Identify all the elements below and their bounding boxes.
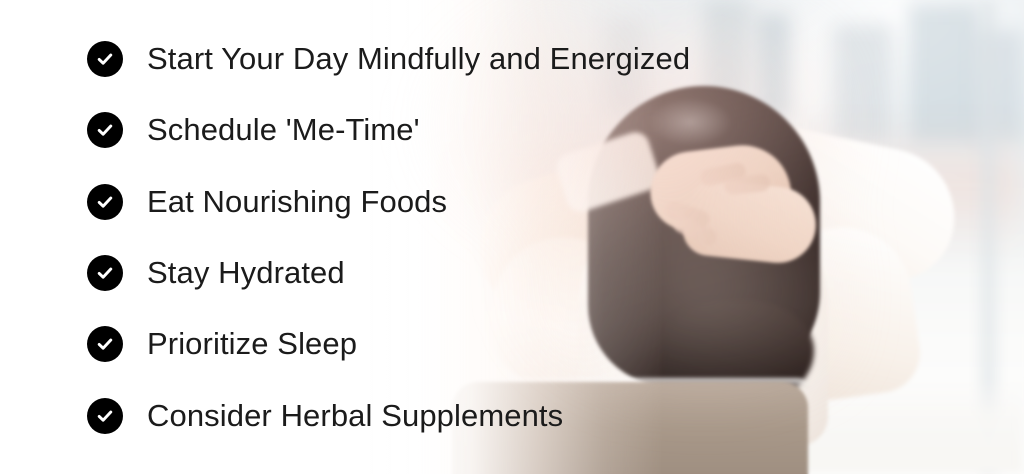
checklist: Start Your Day Mindfully and Energized S…: [0, 0, 560, 474]
checklist-item-4[interactable]: Stay Hydrated: [87, 255, 345, 291]
check-circle-icon: [87, 398, 123, 434]
checklist-item-label: Prioritize Sleep: [147, 326, 357, 362]
check-circle-icon: [87, 41, 123, 77]
slide-canvas: Start Your Day Mindfully and Energized S…: [0, 0, 1024, 474]
checklist-item-label: Eat Nourishing Foods: [147, 184, 447, 220]
checklist-item-1[interactable]: Start Your Day Mindfully and Energized: [87, 41, 690, 77]
check-circle-icon: [87, 326, 123, 362]
checklist-item-label: Stay Hydrated: [147, 255, 345, 291]
checklist-item-label: Schedule 'Me-Time': [147, 112, 420, 148]
check-circle-icon: [87, 112, 123, 148]
checklist-item-label: Consider Herbal Supplements: [147, 398, 563, 434]
checklist-item-6[interactable]: Consider Herbal Supplements: [87, 398, 563, 434]
checklist-item-5[interactable]: Prioritize Sleep: [87, 326, 357, 362]
check-circle-icon: [87, 255, 123, 291]
checklist-item-label: Start Your Day Mindfully and Energized: [147, 41, 690, 77]
checklist-item-2[interactable]: Schedule 'Me-Time': [87, 112, 420, 148]
checklist-item-3[interactable]: Eat Nourishing Foods: [87, 184, 447, 220]
check-circle-icon: [87, 184, 123, 220]
